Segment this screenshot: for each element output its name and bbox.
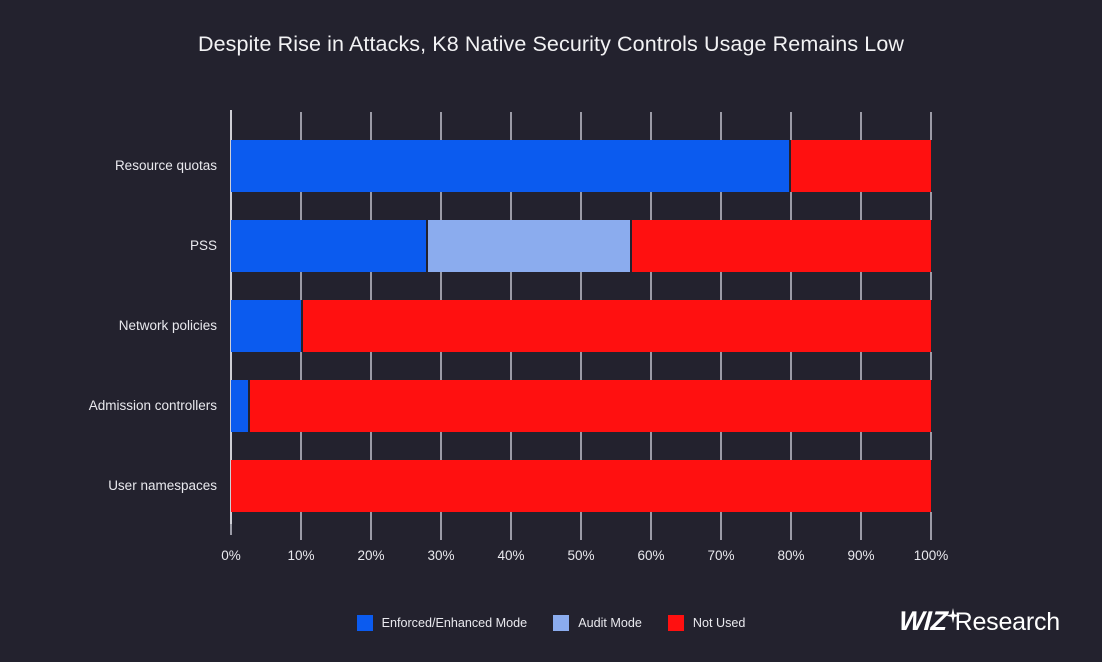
x-axis-tick [720,524,722,535]
gridline-tick [860,272,862,300]
gridline-tick [370,192,372,220]
gridline-band [231,112,931,140]
bar-segment[interactable] [231,300,301,352]
gridline-band [231,432,931,460]
bar-segment[interactable] [791,140,931,192]
gridline-tick [370,352,372,380]
gridline-tick [510,192,512,220]
gridline-tick [790,192,792,220]
legend-label: Enforced/Enhanced Mode [382,616,528,630]
gridline-tick [510,272,512,300]
x-axis-tick-label: 80% [761,548,821,563]
x-axis-tick-label: 50% [551,548,611,563]
bar-row[interactable] [231,300,931,352]
chart-page: Despite Rise in Attacks, K8 Native Secur… [0,0,1102,662]
legend-item[interactable]: Not Used [668,615,746,631]
legend-swatch [668,615,684,631]
gridline-band [231,352,931,380]
gridline-tick [650,112,652,140]
x-axis-tick [860,524,862,535]
x-axis-tick-label: 90% [831,548,891,563]
gridline-tick [650,352,652,380]
gridline-band [231,272,931,300]
gridline-tick [860,192,862,220]
x-axis-tick [580,524,582,535]
gridline-tick [860,432,862,460]
gridline-tick [440,352,442,380]
x-axis-tick-label: 10% [271,548,331,563]
gridline-tick [790,432,792,460]
gridline-tick [580,432,582,460]
x-axis-tick-label: 100% [901,548,961,563]
x-axis-tick-label: 60% [621,548,681,563]
gridline-tick [510,112,512,140]
bar-segment[interactable] [632,220,931,272]
gridline-tick [440,112,442,140]
category-label: Network policies [0,300,217,352]
wiz-research-logo: WIZ Research [899,606,1060,637]
bar-row[interactable] [231,220,931,272]
gridline-tick [930,192,932,220]
x-axis-tick [510,524,512,535]
gridline-tick [790,112,792,140]
category-label: User namespaces [0,460,217,512]
gridline-tick [300,352,302,380]
bar-segment[interactable] [231,380,248,432]
research-wordmark: Research [955,608,1060,637]
category-label: Admission controllers [0,380,217,432]
legend-item[interactable]: Audit Mode [553,615,642,631]
gridline-tick [720,352,722,380]
gridline-tick [720,192,722,220]
bar-segment[interactable] [303,300,931,352]
gridline-tick [930,112,932,140]
gridline-tick [790,352,792,380]
gridline-tick [370,432,372,460]
gridline-tick [300,192,302,220]
x-axis-tick [650,524,652,535]
gridline-tick [510,352,512,380]
gridline-tick [580,352,582,380]
gridline-tick [860,352,862,380]
category-label: Resource quotas [0,140,217,192]
gridline-tick [370,112,372,140]
gridline-tick [510,432,512,460]
x-axis-tick [370,524,372,535]
gridline-tick [580,192,582,220]
gridline-tick [440,272,442,300]
wiz-wordmark: WIZ [898,606,948,637]
gridline-tick [720,112,722,140]
x-axis-tick [790,524,792,535]
category-label: PSS [0,220,217,272]
bar-row[interactable] [231,140,931,192]
x-axis-tick-label: 40% [481,548,541,563]
bar-segment[interactable] [231,220,426,272]
gridline-tick [930,432,932,460]
gridline-tick [300,272,302,300]
x-axis-tick-label: 30% [411,548,471,563]
legend-label: Audit Mode [578,616,642,630]
legend-item[interactable]: Enforced/Enhanced Mode [357,615,528,631]
bar-segment[interactable] [231,140,789,192]
gridline-tick [650,192,652,220]
bar-segment[interactable] [428,220,630,272]
gridline-tick [930,272,932,300]
gridline-tick [650,432,652,460]
x-axis-tick [440,524,442,535]
gridline-tick [930,352,932,380]
legend-label: Not Used [693,616,746,630]
gridline-tick [720,432,722,460]
bar-segment[interactable] [231,460,931,512]
gridline-tick [580,272,582,300]
gridline-tick [370,272,372,300]
bar-row[interactable] [231,460,931,512]
x-axis-tick-label: 70% [691,548,751,563]
gridline-tick [300,112,302,140]
gridline-tick [790,272,792,300]
gridline-tick [300,432,302,460]
x-axis-tick-label: 0% [201,548,261,563]
gridline-tick [440,432,442,460]
x-axis-tick [930,524,932,535]
bar-segment[interactable] [250,380,931,432]
gridline-tick [650,272,652,300]
legend-swatch [357,615,373,631]
legend-swatch [553,615,569,631]
gridline-tick [440,192,442,220]
gridline-tick [580,112,582,140]
gridline-tick [720,272,722,300]
x-axis-tick-label: 20% [341,548,401,563]
x-axis-tick [300,524,302,535]
bar-row[interactable] [231,380,931,432]
page-title: Despite Rise in Attacks, K8 Native Secur… [0,32,1102,57]
plot-area [231,112,931,524]
gridline-tick [860,112,862,140]
x-axis-tick [230,524,232,535]
gridline-band [231,192,931,220]
